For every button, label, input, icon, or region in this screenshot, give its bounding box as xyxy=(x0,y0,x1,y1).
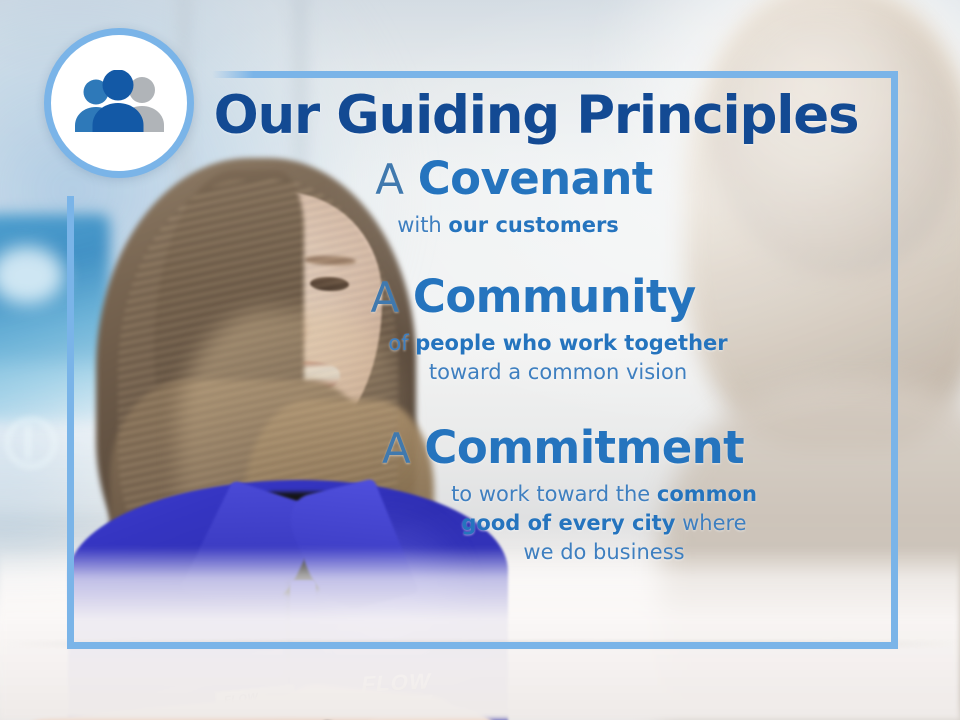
subtext-run: with xyxy=(397,213,448,237)
subtext-line: we do business xyxy=(336,538,872,567)
principle-subtext: of people who work togethertoward a comm… xyxy=(200,329,866,387)
subtext-emphasis: common xyxy=(657,482,757,506)
subtext-line: to work toward the common xyxy=(336,480,872,509)
page-title: Our Guiding Principles xyxy=(200,86,872,146)
subtext-emphasis: people who work together xyxy=(415,331,727,355)
frame-border-right xyxy=(891,71,898,649)
subtext-line: good of every city where xyxy=(336,509,872,538)
principle-covenant: A Covenant with our customers xyxy=(200,152,872,240)
principle-keyword: Commitment xyxy=(424,421,744,474)
subtext-line: with our customers xyxy=(200,211,816,240)
principle-article: A xyxy=(382,424,411,473)
principle-community: A Community of people who work togethert… xyxy=(200,270,872,387)
people-badge xyxy=(44,28,194,178)
principle-heading: A Covenant xyxy=(200,152,828,207)
guiding-principles-graphic: FLOW AUTOMOTIVE FLOW xyxy=(0,0,960,720)
principle-subtext: to work toward the commongood of every c… xyxy=(254,480,872,567)
principle-subtext: with our customers xyxy=(200,211,828,240)
principle-article: A xyxy=(370,273,399,322)
principle-heading: A Community xyxy=(200,270,866,325)
subtext-run: we do business xyxy=(523,540,684,564)
principle-keyword: Community xyxy=(413,270,696,323)
frame-border-top xyxy=(212,71,898,78)
people-group-icon xyxy=(70,70,168,136)
frame-border-bottom xyxy=(67,642,898,649)
frame-border-left xyxy=(67,196,74,649)
subtext-line: toward a common vision xyxy=(250,358,866,387)
principle-commitment: A Commitment to work toward the commongo… xyxy=(200,421,872,567)
subtext-line: of people who work together xyxy=(250,329,866,358)
subtext-run: toward a common vision xyxy=(429,360,687,384)
subtext-run: where xyxy=(675,511,746,535)
principle-article: A xyxy=(375,155,404,204)
overlay-graphics: Our Guiding Principles A Covenant with o… xyxy=(0,0,960,720)
subtext-emphasis: good of every city xyxy=(461,511,675,535)
principle-keyword: Covenant xyxy=(418,152,653,205)
subtext-run: to work toward the xyxy=(451,482,657,506)
subtext-emphasis: our customers xyxy=(448,213,618,237)
subtext-run: of xyxy=(388,331,415,355)
principles-text-column: Our Guiding Principles A Covenant with o… xyxy=(200,86,872,567)
principle-heading: A Commitment xyxy=(254,421,872,476)
